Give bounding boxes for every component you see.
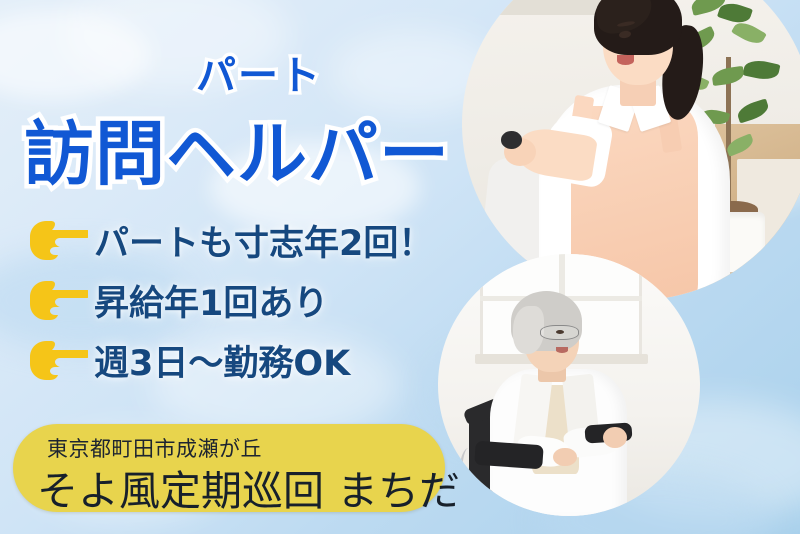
benefit-text: 昇給年1回あり <box>94 275 328 326</box>
kicker-text: パート <box>196 43 322 101</box>
job-ad-banner: パート 訪問ヘルパー パートも寸志年2回！ 昇給年1回あり <box>0 0 800 534</box>
list-item: 週3日〜勤務OK <box>26 332 496 388</box>
pointing-right-hand-icon <box>26 278 88 322</box>
pointing-right-hand-icon <box>26 218 88 262</box>
list-item: 昇給年1回あり <box>26 272 496 328</box>
benefit-text: パートも寸志年2回！ <box>94 215 433 266</box>
page-title: 訪問ヘルパー <box>24 98 450 199</box>
benefit-text: 週3日〜勤務OK <box>94 335 350 386</box>
facility-name: そよ風定期巡回 まちだ <box>37 457 460 517</box>
benefits-list: パートも寸志年2回！ 昇給年1回あり 週3日〜勤務OK <box>26 212 496 392</box>
facility-badge: 東京都町田市成瀬が丘 そよ風定期巡回 まちだ <box>13 424 445 512</box>
pointing-right-hand-icon <box>26 338 88 382</box>
list-item: パートも寸志年2回！ <box>26 212 496 268</box>
